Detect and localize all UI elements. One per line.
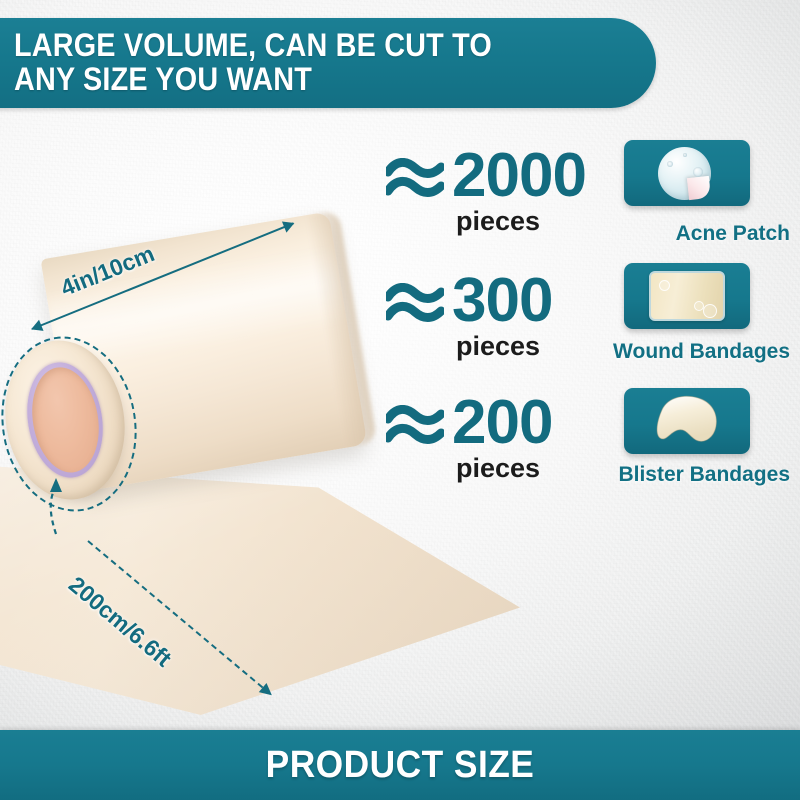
stat-count: 2000 — [452, 145, 586, 207]
wound-bubble-icon — [703, 304, 717, 318]
badge-wound-bandages[interactable] — [624, 263, 750, 329]
wound-bandage-icon — [649, 271, 725, 321]
approx-wave-icon — [386, 405, 444, 451]
stat-count: 300 — [452, 270, 552, 332]
badge-label-acne-patch: Acne Patch — [540, 222, 790, 246]
footer-title: PRODUCT SIZE — [28, 730, 772, 800]
acne-bubble-icon — [667, 161, 673, 167]
approx-wave-icon — [386, 158, 444, 204]
acne-patch-icon — [658, 147, 711, 200]
roll-right-shading — [305, 210, 377, 448]
stat-count: 200 — [452, 392, 552, 454]
header-banner: LARGE VOLUME, CAN BE CUT TO ANY SIZE YOU… — [0, 18, 656, 108]
approx-wave-icon — [386, 283, 444, 329]
stat-unit: pieces — [456, 206, 540, 237]
badge-blister-bandages[interactable] — [624, 388, 750, 454]
acne-bubble-icon — [683, 153, 687, 157]
acne-patch-peel-corner — [687, 176, 711, 200]
badge-acne-patch[interactable] — [624, 140, 750, 206]
badge-label-blister-bandages: Blister Bandages — [510, 463, 790, 487]
footer-banner: PRODUCT SIZE — [0, 730, 800, 800]
badge-label-wound-bandages: Wound Bandages — [520, 340, 790, 364]
product-infographic: LARGE VOLUME, CAN BE CUT TO ANY SIZE YOU… — [0, 0, 800, 800]
wound-bubble-icon — [659, 280, 670, 291]
acne-bubble-icon — [693, 167, 703, 177]
blister-bandage-icon — [654, 394, 720, 448]
header-title: LARGE VOLUME, CAN BE CUT TO ANY SIZE YOU… — [14, 28, 563, 96]
core-arrow-icon — [22, 468, 82, 538]
